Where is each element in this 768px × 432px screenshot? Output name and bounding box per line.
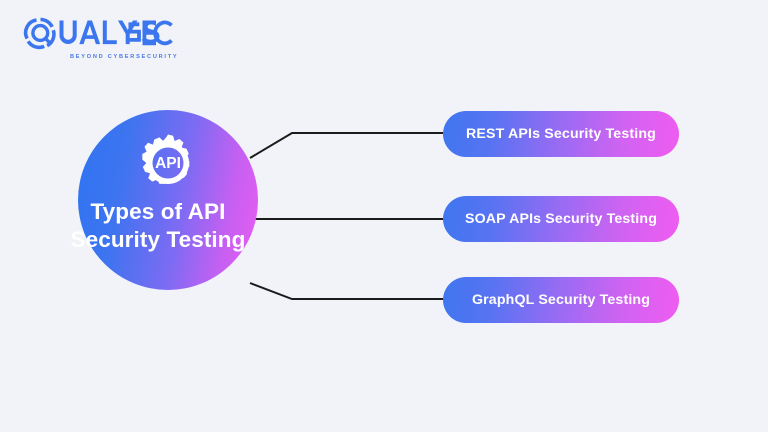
central-node: API Types of API Security Testing: [78, 110, 258, 290]
connector-line-rest: [250, 133, 443, 158]
connector-line-graphql: [250, 283, 443, 299]
branch-pill-rest[interactable]: REST APIs Security Testing: [443, 111, 679, 157]
brand-logo: BEYOND CYBERSECURITY: [18, 14, 173, 56]
branch-pill-graphql-label: GraphQL Security Testing: [472, 292, 650, 308]
brand-tagline: BEYOND CYBERSECURITY: [70, 54, 178, 60]
infographic-canvas: BEYOND CYBERSECURITY API: [0, 0, 768, 432]
branch-pill-soap[interactable]: SOAP APIs Security Testing: [443, 196, 679, 242]
qualysec-q-ring-icon: [18, 14, 173, 56]
branch-pill-soap-label: SOAP APIs Security Testing: [465, 211, 657, 227]
api-gear-label: API: [155, 155, 181, 172]
api-gear-icon: API: [137, 132, 199, 194]
central-node-title: Types of API Security Testing: [48, 198, 268, 254]
branch-pill-rest-label: REST APIs Security Testing: [466, 126, 656, 142]
branch-pill-graphql[interactable]: GraphQL Security Testing: [443, 277, 679, 323]
